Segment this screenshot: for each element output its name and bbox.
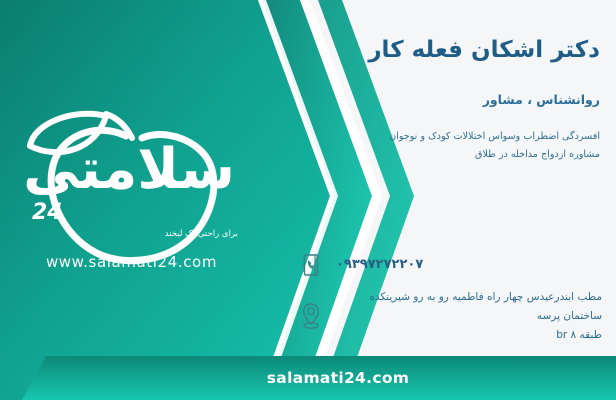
services-list: افسردگی اضطراب وسواس اختلالات کودک و نوج…	[300, 128, 600, 163]
address-row[interactable]: مطب ابندرعیدس چهار راه فاطمیه رو به رو ش…	[296, 288, 602, 345]
logo-brand-word: سلامتی	[14, 142, 244, 198]
location-pin-icon	[296, 299, 326, 333]
card-content: دکتر اشکان فعله کار روانشناس ، مشاور افس…	[286, 0, 616, 400]
phone-book-icon	[296, 248, 326, 282]
phone-number[interactable]: ۰۹۳۹۷۲۷۲۲۰۷	[336, 253, 423, 276]
address-text: مطب ابندرعیدس چهار راه فاطمیه رو به رو ش…	[336, 288, 602, 345]
doctor-role: روانشناس ، مشاور	[300, 92, 600, 107]
brand-logo: سلامتی 24 برای راحتی یک لبخند www.salama…	[14, 108, 244, 273]
address-line-2: طبقه ۸ br	[336, 326, 602, 345]
logo-slogan: برای راحتی یک لبخند	[165, 229, 238, 239]
address-line-1: مطب ابندرعیدس چهار راه فاطمیه رو به رو ش…	[336, 288, 602, 326]
bottom-banner: salamati24.com	[0, 356, 616, 400]
phone-row[interactable]: ۰۹۳۹۷۲۷۲۲۰۷	[296, 248, 602, 282]
business-card: سلامتی 24 برای راحتی یک لبخند www.salama…	[0, 0, 616, 400]
logo-website-url: www.salamati24.com	[24, 253, 239, 271]
doctor-name: دکتر اشکان فعله کار	[300, 36, 600, 65]
service-line-2: مشاوره ازدواج مداخله در طلاق	[300, 146, 600, 164]
logo-badge-24: 24	[32, 200, 63, 225]
service-line-1: افسردگی اضطراب وسواس اختلالات کودک و نوج…	[300, 128, 600, 146]
banner-website[interactable]: salamati24.com	[0, 356, 616, 400]
